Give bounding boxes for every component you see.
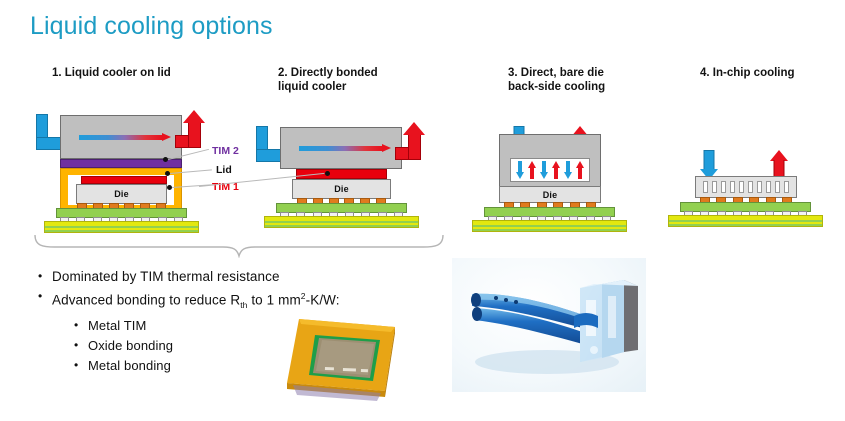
pcb-4	[668, 215, 823, 227]
bullet-text: Metal bonding	[88, 357, 171, 374]
chamber-arrow-down-3	[564, 161, 573, 179]
column-heading-4: 4. In-chip cooling	[700, 66, 795, 80]
die-block-3: Die	[499, 186, 601, 203]
bullet-marker: •	[38, 268, 52, 285]
die-block-1: Die	[76, 184, 167, 204]
page-title: Liquid cooling options	[30, 12, 273, 41]
tim2-label: TIM 2	[212, 145, 239, 157]
chamber-arrow-down-1	[515, 161, 524, 179]
die-block-2: Die	[292, 179, 391, 199]
lid-label: Lid	[216, 164, 232, 176]
bullet-text: Oxide bonding	[88, 337, 173, 354]
bullet-marker: •	[74, 317, 88, 334]
die-label-2: Die	[334, 184, 349, 194]
die-label-1: Die	[114, 189, 129, 199]
internal-flow-arrows-3	[512, 160, 588, 180]
bullet-marker: •	[74, 337, 88, 354]
microchannels-4	[699, 179, 793, 195]
column-heading-2: 2. Directly bonded liquid cooler	[278, 66, 378, 94]
diagram-in-chip-cooling	[690, 150, 840, 230]
coolant-flow-arrow-2	[299, 144, 391, 153]
tim1-layer-1	[81, 176, 167, 184]
bullet-text: Metal TIM	[88, 317, 146, 334]
chamber-arrow-up-3	[576, 161, 585, 179]
chamber-arrow-up-2	[552, 161, 561, 179]
column-heading-1: 1. Liquid cooler on lid	[52, 66, 171, 80]
bullet-text: Dominated by TIM thermal resistance	[52, 268, 280, 285]
bullet-item: • Dominated by TIM thermal resistance	[38, 268, 358, 285]
diagram-direct-bare-die-cooling: Die	[494, 126, 644, 230]
bullet-marker: •	[74, 357, 88, 374]
die-label-3: Die	[543, 190, 558, 200]
pcb-3	[472, 220, 627, 232]
pcb-2	[264, 216, 419, 228]
column-heading-3: 3. Direct, bare die back-side cooling	[508, 66, 605, 94]
liquid-cooler-photo	[452, 258, 646, 392]
chamber-arrow-up-1	[527, 161, 536, 179]
chip-package-photo	[277, 305, 407, 408]
pcb-1	[44, 221, 199, 233]
chamber-arrow-down-2	[539, 161, 548, 179]
leader-dot-tim1-2	[325, 171, 330, 176]
grouping-brace	[33, 234, 445, 258]
coolant-flow-arrow-1	[79, 133, 171, 142]
bullet-marker: •	[38, 288, 52, 305]
